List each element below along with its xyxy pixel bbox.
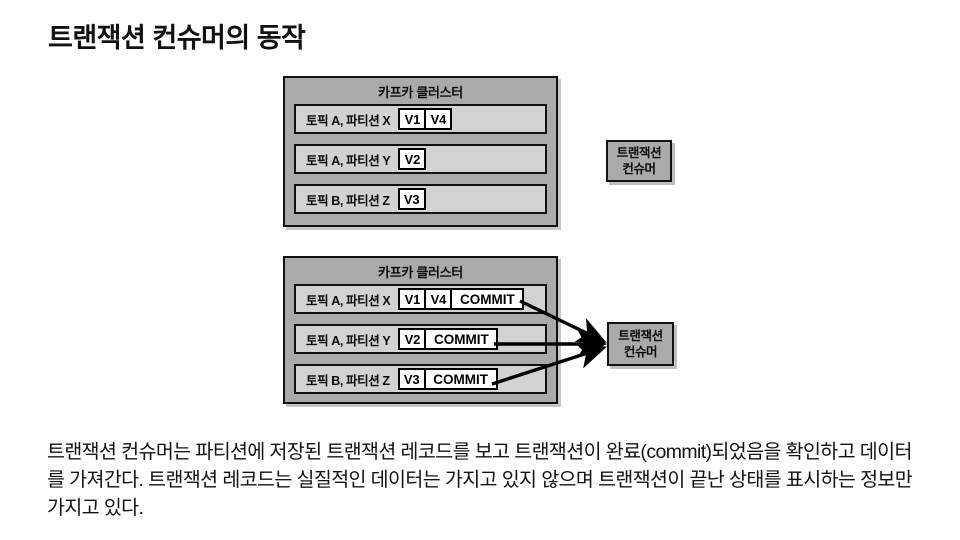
record-chip: V3 <box>398 188 426 210</box>
commit-chip: COMMIT <box>450 288 524 310</box>
record-chip: V1 <box>398 108 426 130</box>
partition-row: 토픽 A, 파티션 X V1 V4 COMMIT <box>294 284 547 314</box>
record-chip-group: V2 <box>398 148 424 170</box>
record-chip-group: V3 <box>398 188 424 210</box>
partition-row: 토픽 B, 파티션 Z V3 <box>294 184 547 214</box>
partition-row: 토픽 A, 파티션 X V1 V4 <box>294 104 547 134</box>
consumer-label-line2: 컨슈머 <box>624 344 657 360</box>
description-paragraph: 트랜잭션 컨슈머는 파티션에 저장된 트랜잭션 레코드를 보고 트랜잭션이 완료… <box>47 438 927 523</box>
kafka-cluster-before: 카프카 클러스터 토픽 A, 파티션 X V1 V4 토픽 A, 파티션 Y V… <box>283 76 558 227</box>
partition-label: 토픽 B, 파티션 Z <box>306 370 390 389</box>
consumer-label-line2: 컨슈머 <box>622 161 655 177</box>
commit-chip: COMMIT <box>424 328 498 350</box>
record-chip-group: V1 V4 COMMIT <box>398 288 522 310</box>
record-chip: V3 <box>398 368 426 390</box>
consumer-label-line1: 트랜잭션 <box>617 145 661 161</box>
cluster-title: 카프카 클러스터 <box>285 262 556 281</box>
record-chip-group: V2 COMMIT <box>398 328 496 350</box>
transaction-consumer-after: 트랜잭션 컨슈머 <box>607 322 674 366</box>
partition-label: 토픽 A, 파티션 Y <box>306 330 390 349</box>
partition-label: 토픽 A, 파티션 X <box>306 290 390 309</box>
partition-label: 토픽 A, 파티션 Y <box>306 150 390 169</box>
record-chip: V2 <box>398 328 426 350</box>
page-title: 트랜잭션 컨슈머의 동작 <box>48 16 305 55</box>
partition-row-list: 토픽 A, 파티션 X V1 V4 토픽 A, 파티션 Y V2 토픽 B, 파… <box>285 104 556 222</box>
partition-row: 토픽 B, 파티션 Z V3 COMMIT <box>294 364 547 394</box>
record-chip-group: V3 COMMIT <box>398 368 496 390</box>
record-chip-group: V1 V4 <box>398 108 450 130</box>
cluster-title: 카프카 클러스터 <box>285 82 556 101</box>
commit-chip: COMMIT <box>424 368 498 390</box>
record-chip: V2 <box>398 148 426 170</box>
record-chip: V4 <box>424 288 452 310</box>
record-chip: V1 <box>398 288 426 310</box>
partition-row-list: 토픽 A, 파티션 X V1 V4 COMMIT 토픽 A, 파티션 Y V2 … <box>285 284 556 402</box>
partition-row: 토픽 A, 파티션 Y V2 <box>294 144 547 174</box>
partition-row: 토픽 A, 파티션 Y V2 COMMIT <box>294 324 547 354</box>
kafka-cluster-after: 카프카 클러스터 토픽 A, 파티션 X V1 V4 COMMIT 토픽 A, … <box>283 256 558 404</box>
consumer-label-line1: 트랜잭션 <box>618 328 662 344</box>
partition-label: 토픽 A, 파티션 X <box>306 110 390 129</box>
partition-label: 토픽 B, 파티션 Z <box>306 190 390 209</box>
transaction-consumer-before: 트랜잭션 컨슈머 <box>606 140 672 182</box>
record-chip: V4 <box>424 108 452 130</box>
